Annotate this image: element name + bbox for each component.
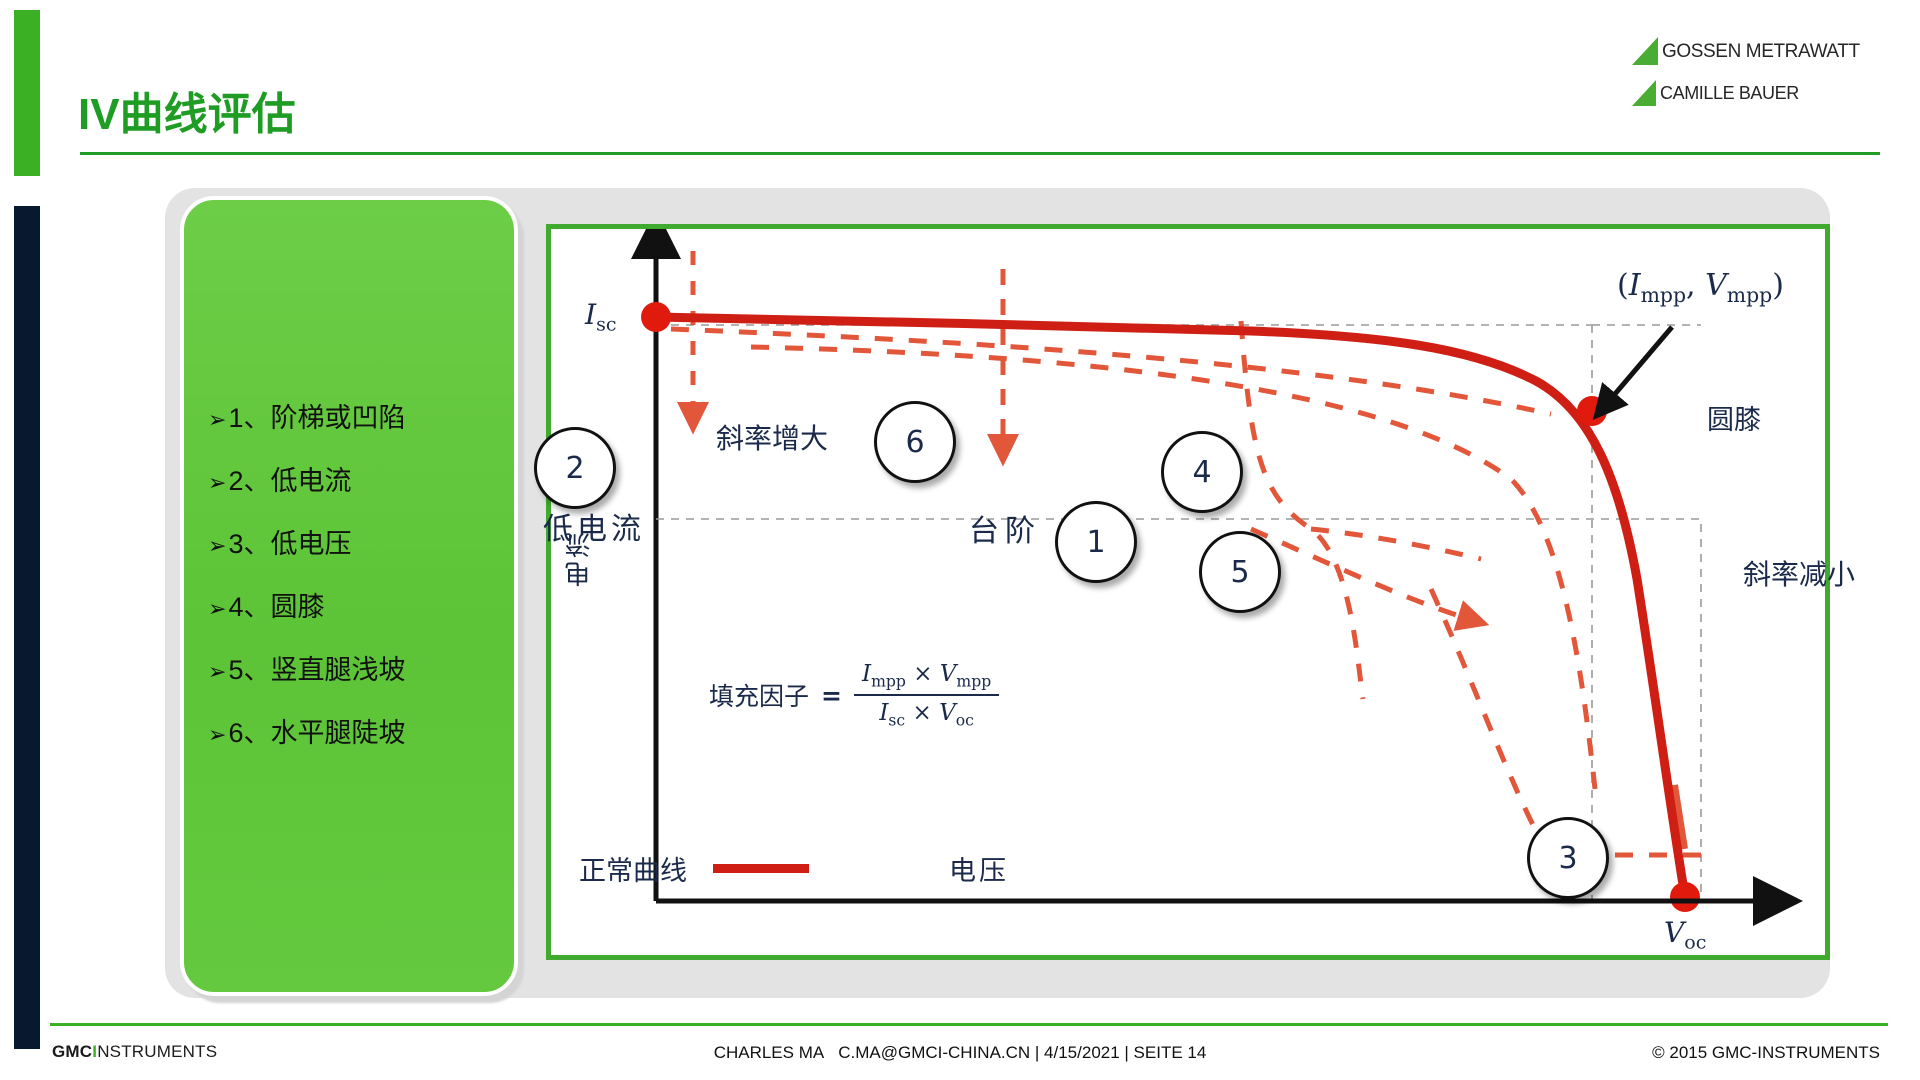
bullet-arrow-icon: ➢ — [208, 409, 226, 431]
list-item[interactable]: ➢ 1、阶梯或凹陷 — [208, 396, 508, 435]
voc-point — [1670, 882, 1700, 912]
formula-numerator: Impp × Vmpp — [854, 661, 999, 696]
x-axis-label: 电压 — [949, 849, 1009, 888]
footer-contact-info: C.MA@GMCI-CHINA.CN | 4/15/2021 | SEITE 1… — [838, 1043, 1206, 1062]
bullet-arrow-icon: ➢ — [208, 535, 226, 557]
list-item[interactable]: ➢ 5、竖直腿浅坡 — [208, 648, 508, 687]
bullet-arrow-icon: ➢ — [208, 598, 226, 620]
brand-row-camille: CAMILLE BAUER — [1632, 76, 1884, 110]
brand-row-gossen: GOSSEN METRAWATT — [1632, 34, 1884, 68]
callout-label: 1 — [1086, 525, 1105, 560]
footer-copyright: © 2015 GMC-INSTRUMENTS — [1652, 1043, 1880, 1063]
slope-increase-label: 斜率增大 — [716, 425, 828, 453]
callout-2[interactable]: 2 — [534, 427, 616, 509]
mpp-coordinate-label: (Impp, Vmpp) — [1617, 271, 1784, 305]
list-item-label: 6、水平腿陡坡 — [228, 711, 405, 750]
mpp-point — [1577, 396, 1607, 426]
formula-lhs: 填充因子 — [709, 677, 809, 713]
callout-label: 2 — [565, 451, 584, 486]
list-item-label: 3、低电压 — [228, 522, 351, 561]
brand-logo: GOSSEN METRAWATT CAMILLE BAUER — [1632, 34, 1884, 118]
sidebar-card: ➢ 1、阶梯或凹陷 ➢ 2、低电流 ➢ 3、低电压 ➢ 4、圆膝 ➢ 5、竖直腿… — [180, 196, 518, 996]
round-knee-label: 圆膝 — [1707, 407, 1761, 434]
voc-label: Voc — [1664, 919, 1706, 953]
legend-line-swatch — [713, 864, 809, 873]
bullet-arrow-icon: ➢ — [208, 661, 226, 683]
isc-label: Isc — [585, 301, 617, 335]
callout-label: 3 — [1558, 841, 1577, 876]
accent-bar-green — [14, 10, 40, 176]
slope-decrease-label: 斜率减小 — [1743, 561, 1855, 589]
triangle-icon — [1632, 80, 1656, 106]
brand-name-camille: CAMILLE BAUER — [1660, 84, 1799, 102]
list-item-label: 2、低电流 — [228, 459, 351, 498]
formula-equals: = — [821, 681, 842, 710]
accent-bar-dark — [14, 206, 40, 1049]
footer-divider — [50, 1023, 1888, 1026]
legend-label: 正常曲线 — [579, 849, 687, 888]
list-item[interactable]: ➢ 6、水平腿陡坡 — [208, 711, 508, 750]
formula-denominator: Isc × Voc — [871, 696, 982, 730]
chart-plot-svg — [551, 229, 1825, 955]
page-title: IV曲线评估 — [78, 78, 296, 142]
callout-6[interactable]: 6 — [874, 401, 956, 483]
list-item-label: 4、圆膝 — [228, 585, 324, 624]
footer-author: CHARLES MA — [714, 1043, 825, 1062]
callout-5[interactable]: 5 — [1199, 531, 1281, 613]
callout-label: 6 — [905, 425, 924, 460]
footer-meta: CHARLES MAC.MA@GMCI-CHINA.CN | 4/15/2021… — [0, 1043, 1920, 1063]
bullet-arrow-icon: ➢ — [208, 472, 226, 494]
list-item-label: 1、阶梯或凹陷 — [228, 396, 405, 435]
low-current-label: 低电流 — [543, 515, 645, 545]
callout-label: 4 — [1192, 455, 1211, 490]
triangle-icon — [1632, 37, 1658, 65]
list-item[interactable]: ➢ 2、低电流 — [208, 459, 508, 498]
brand-name-gossen: GOSSEN METRAWATT — [1662, 42, 1860, 61]
list-item[interactable]: ➢ 3、低电压 — [208, 522, 508, 561]
fill-factor-formula: 填充因子 = Impp × Vmpp Isc × Voc — [709, 661, 999, 729]
callout-4[interactable]: 4 — [1161, 431, 1243, 513]
chart-legend: 正常曲线 — [579, 849, 809, 888]
step-label: 台阶 — [969, 517, 1041, 547]
callout-3[interactable]: 3 — [1527, 817, 1609, 899]
iv-curve-chart: 电流 Isc Voc (Impp, Vmpp) 圆膝 斜率增大 斜率减小 台阶 … — [546, 224, 1830, 960]
title-divider — [80, 152, 1880, 155]
bullet-arrow-icon: ➢ — [208, 724, 226, 746]
callout-1[interactable]: 1 — [1055, 501, 1137, 583]
isc-point — [641, 302, 671, 332]
bullet-list: ➢ 1、阶梯或凹陷 ➢ 2、低电流 ➢ 3、低电压 ➢ 4、圆膝 ➢ 5、竖直腿… — [208, 396, 508, 774]
list-item[interactable]: ➢ 4、圆膝 — [208, 585, 508, 624]
formula-fraction: Impp × Vmpp Isc × Voc — [854, 661, 999, 729]
callout-label: 5 — [1230, 555, 1249, 590]
list-item-label: 5、竖直腿浅坡 — [228, 648, 405, 687]
